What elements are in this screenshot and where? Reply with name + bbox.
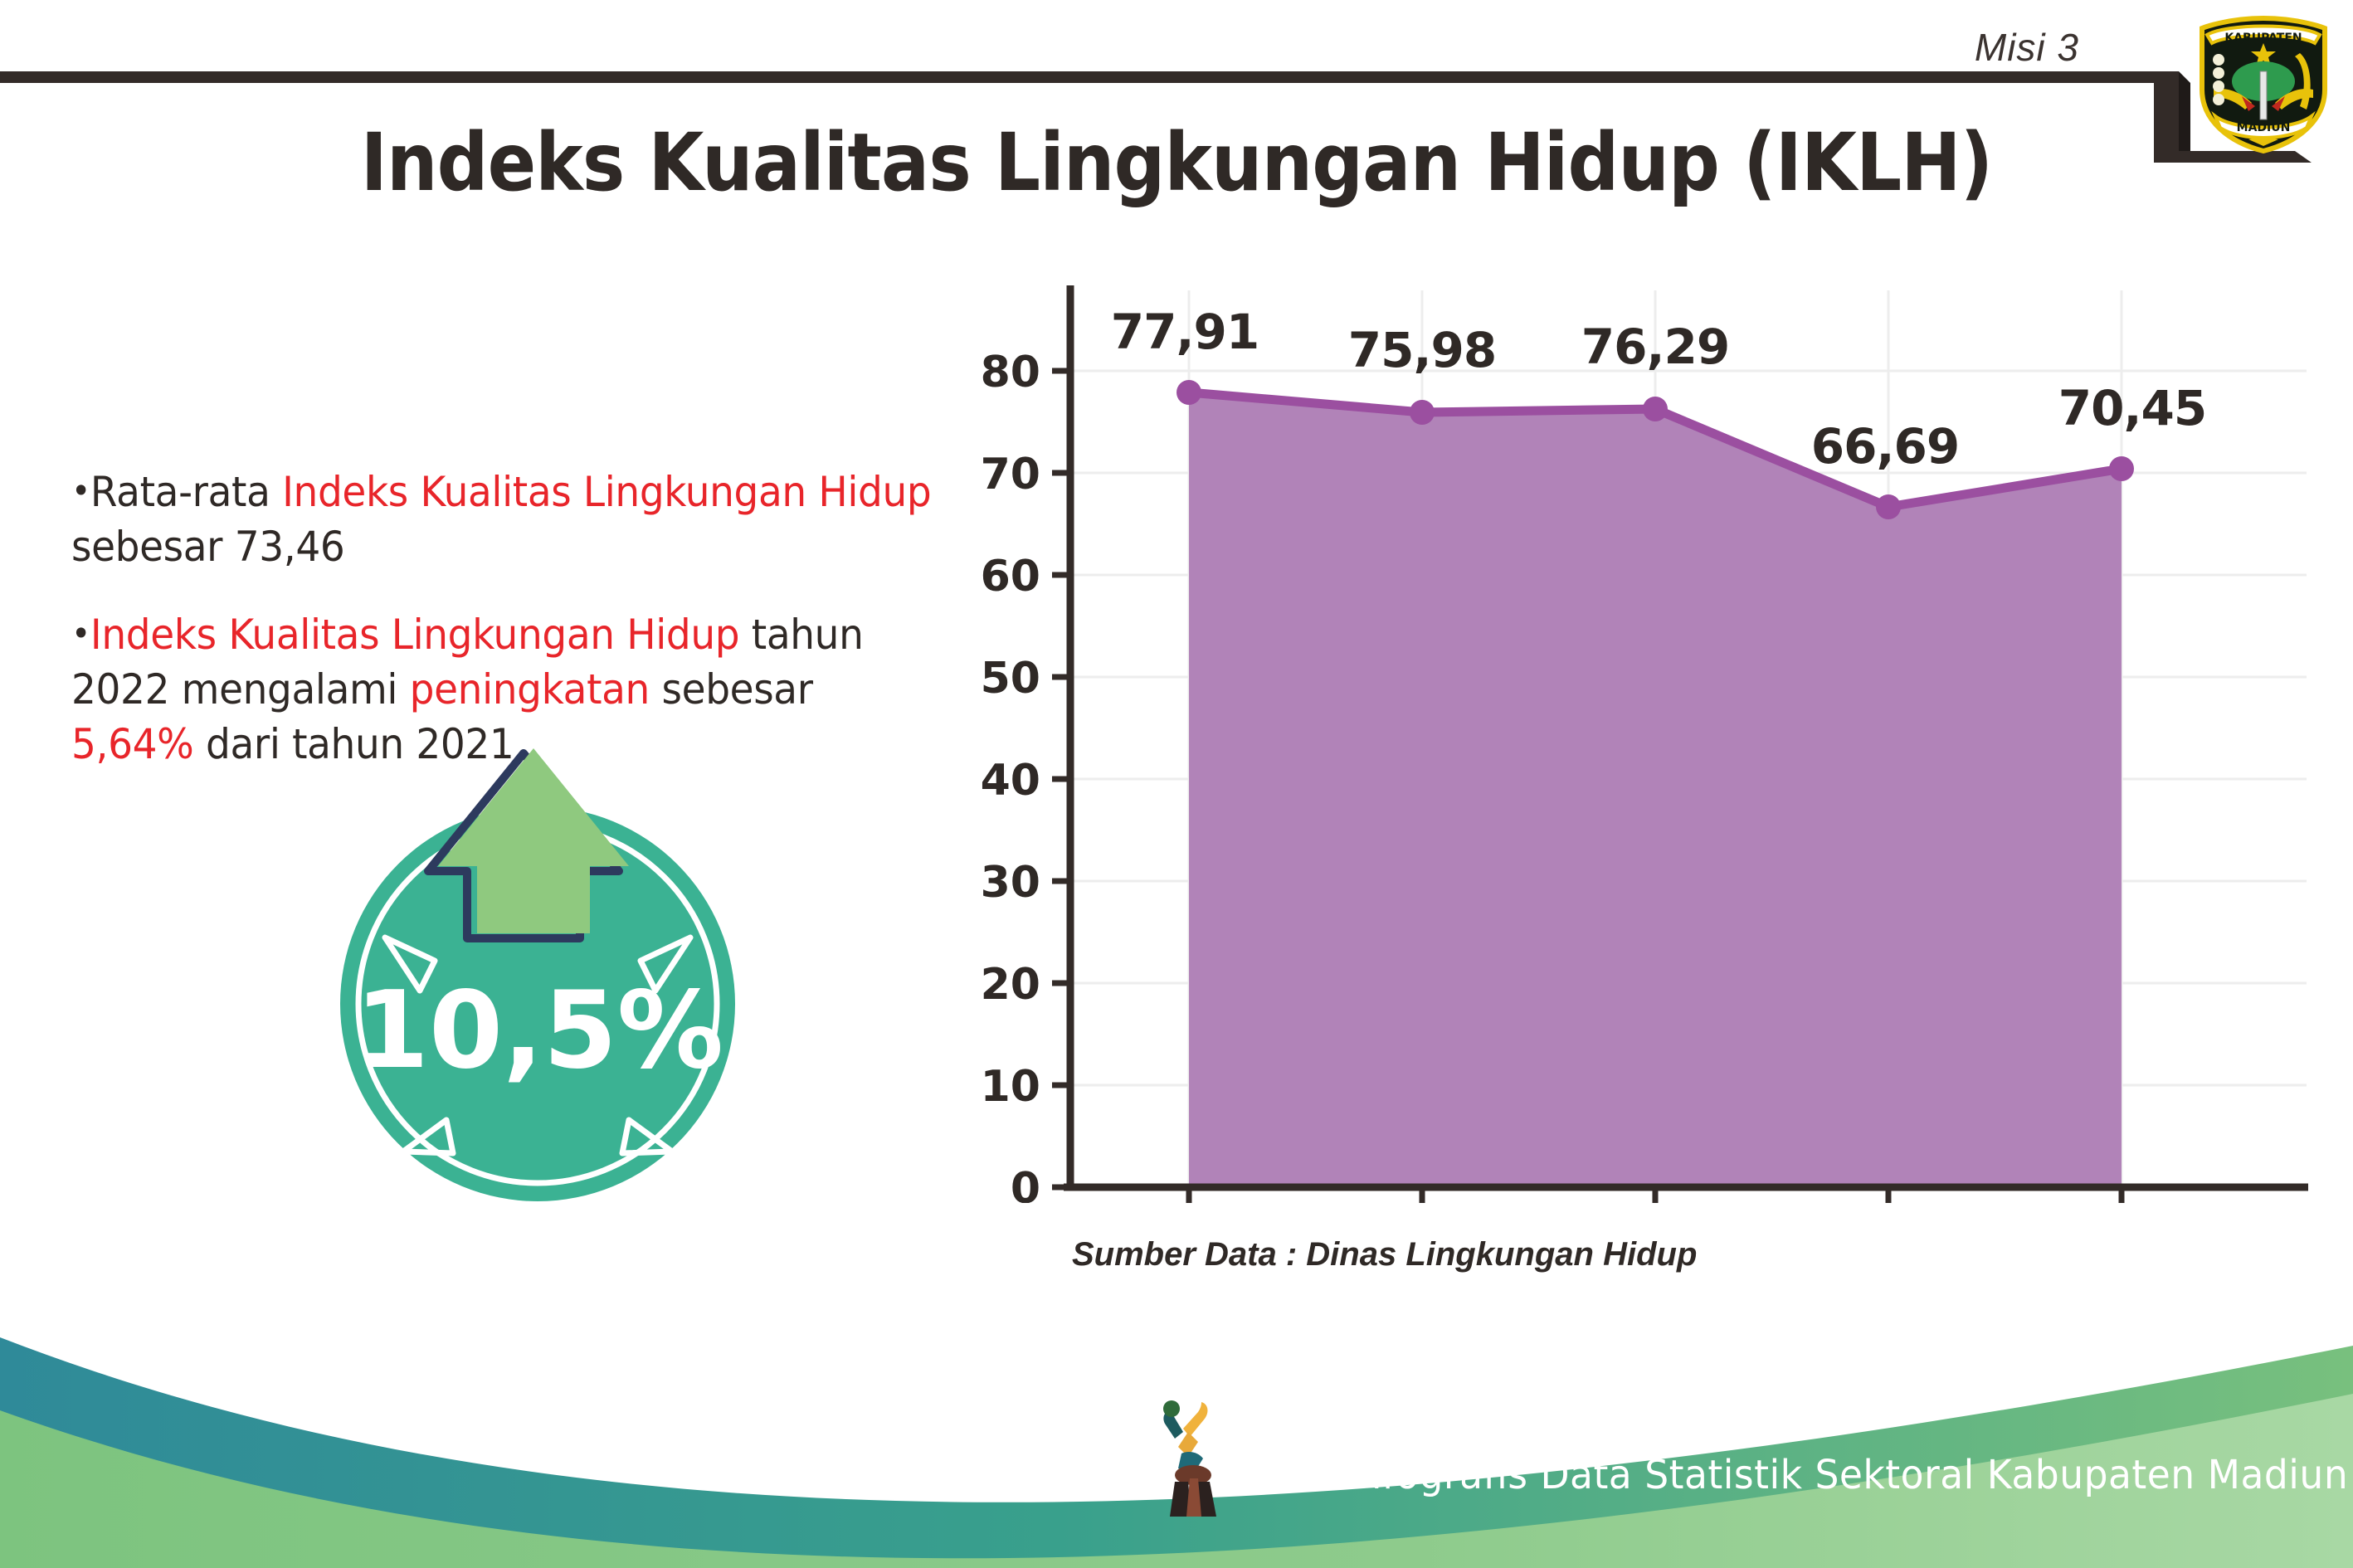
svg-text:KABUPATEN: KABUPATEN (2224, 32, 2302, 45)
footer-caption: Media Infografis Data Statistik Sektoral… (1218, 1452, 2353, 1498)
iklh-area-chart: 0 10 20 30 40 50 60 70 80 2018 2019 2020… (954, 274, 2315, 1203)
svg-text:40: 40 (981, 756, 1040, 806)
svg-text:70: 70 (981, 450, 1040, 499)
svg-text:70,45: 70,45 (2058, 380, 2206, 436)
bullet-text-1: Rata-rata Indeks Kualitas Lingkungan Hid… (71, 468, 931, 571)
bullet-marker: • (71, 613, 90, 654)
bullet-marker: • (71, 470, 90, 511)
chart-area-fill (1189, 392, 2122, 1187)
header-divider-rule (0, 71, 2162, 83)
svg-text:20: 20 (981, 960, 1040, 1010)
bullet-item: •Rata-rata Indeks Kualitas Lingkungan Hi… (71, 465, 937, 574)
svg-text:MADIUN: MADIUN (2237, 121, 2291, 134)
svg-text:30: 30 (981, 858, 1040, 908)
svg-text:76,29: 76,29 (1581, 319, 1729, 375)
svg-text:66,69: 66,69 (1811, 418, 1959, 475)
svg-text:0: 0 (1011, 1164, 1040, 1203)
page-title: Indeks Kualitas Lingkungan Hidup (IKLH) (118, 116, 2235, 209)
svg-text:10: 10 (981, 1062, 1040, 1112)
svg-text:75,98: 75,98 (1348, 322, 1496, 378)
chart-source-note: Sumber Data : Dinas Lingkungan Hidup (1072, 1236, 1697, 1273)
chart-y-tick-labels: 0 10 20 30 40 50 60 70 80 (981, 348, 1040, 1203)
svg-text:50: 50 (981, 654, 1040, 704)
mission-label: Misi 3 (1975, 25, 2079, 70)
svg-text:77,91: 77,91 (1111, 304, 1259, 360)
badge-value: 10,5% (355, 969, 723, 1093)
svg-text:80: 80 (981, 348, 1040, 397)
svg-text:60: 60 (981, 552, 1040, 601)
increase-badge: 10,5% (322, 745, 753, 1210)
